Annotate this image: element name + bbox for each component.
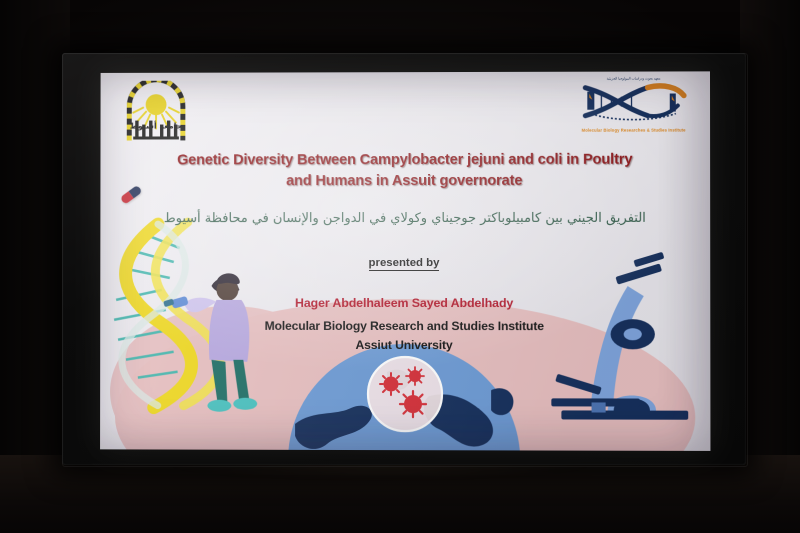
title-line-1: Genetic Diversity Between Campylobacter … <box>106 150 704 172</box>
presenter-university: Assiut University <box>106 336 704 356</box>
virus-cluster <box>368 357 442 431</box>
globe-earth <box>288 344 520 451</box>
molecular-biology-institute-logo: معهد بحوث ودراسات البيولوجيا الجزيئية <box>573 77 694 137</box>
presented-by-text: presented by <box>369 257 440 271</box>
title-line-2: and Humans in Assuit governorate <box>106 171 704 193</box>
au-logo-arabic-line1: جامعة أسيوط <box>130 120 183 130</box>
presenter-institute: Molecular Biology Research and Studies I… <box>106 317 704 337</box>
room-wall-left <box>0 0 70 533</box>
screenshot-root: جامعة أسيوط معهد بحوث ودراسات البيولوجيا… <box>0 0 800 533</box>
presented-by-label: presented by <box>106 257 704 269</box>
slide-subtitle-arabic: التفريق الجيني بين كامبيلوباكتر جوجيناي … <box>106 210 704 228</box>
presenter-name: Hager Abdelhaleem Sayed Abdelhady <box>106 296 704 310</box>
assiut-university-logo: جامعة أسيوط <box>123 81 189 143</box>
presentation-slide: جامعة أسيوط معهد بحوث ودراسات البيولوجيا… <box>100 71 710 451</box>
mb-logo-english-text: Molecular Biology Researches & Studies I… <box>573 128 694 133</box>
room-wall-right <box>740 0 800 533</box>
mb-logo-arabic-text: معهد بحوث ودراسات البيولوجيا الجزيئية <box>573 77 694 81</box>
dna-double-helix <box>114 222 220 408</box>
presenter-affiliation: Molecular Biology Research and Studies I… <box>106 317 704 356</box>
slide-title: Genetic Diversity Between Campylobacter … <box>106 150 704 193</box>
